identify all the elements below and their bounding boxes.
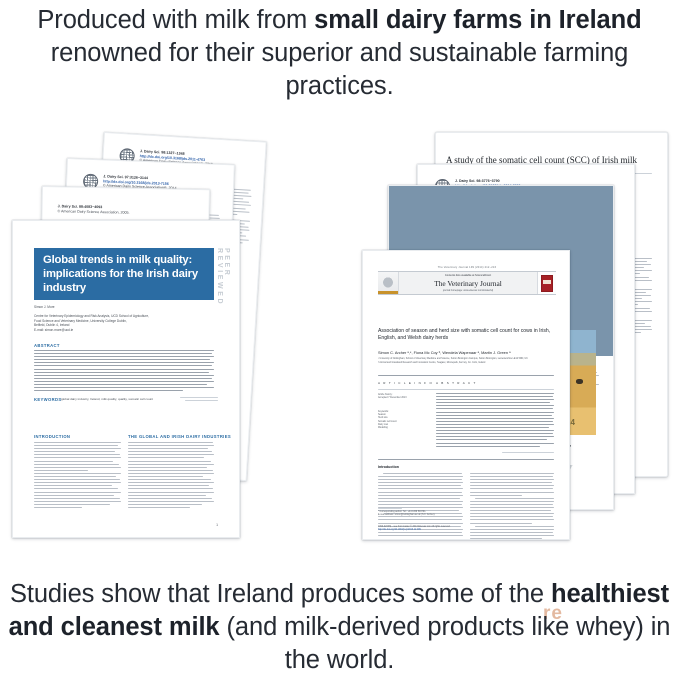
journal-homepage-url[interactable]: journal homepage: www.elsevier.com/locat… [399, 289, 537, 292]
footline-text: Studies show that Ireland produces some … [8, 578, 671, 677]
headline-part1: Produced with milk from [37, 6, 314, 34]
rule-below-info [378, 389, 554, 392]
corresponding-author-note: * Corresponding author. Tel.: +44 1159 5… [378, 508, 458, 517]
science-direct-thumb [378, 272, 399, 294]
article-authors: Simon C. Archer ᵃ,*, Fiona Mc Coy ᵇ, Wen… [378, 350, 554, 355]
poster-canvas: Produced with milk from small dairy farm… [0, 0, 679, 681]
affiliation-a: ᵃ University of Nottingham, School of Ve… [378, 358, 554, 361]
keyword-5: Modelling [378, 427, 426, 430]
abstract-heading: A B S T R A C T [436, 381, 477, 385]
keywords-block: Keywords: Season Herd size Somatic cell … [378, 411, 426, 430]
introduction-heading: Introduction [378, 465, 399, 469]
running-head: The Veterinary Journal 199 (2014) 212−21… [378, 266, 556, 269]
footer-doi[interactable]: http://dx.doi.org/10.1016/j.tvjl.2013.12… [378, 529, 508, 532]
masthead-box: Contents lists available at ScienceDirec… [378, 271, 556, 295]
tree-illustration-icon [378, 272, 398, 291]
contents-line: Contents lists available at ScienceDirec… [399, 274, 537, 277]
footline-part1: Studies show that Ireland produces some … [10, 580, 551, 608]
headline-text: Produced with milk from small dairy farm… [8, 4, 671, 103]
corresponding-email[interactable]: E-mail address: simon@nottingham.ac.uk (… [378, 514, 458, 517]
masthead-center: Contents lists available at ScienceDirec… [399, 272, 537, 294]
rule-above-info [378, 375, 554, 378]
journal-masthead: The Veterinary Journal 199 (2014) 212−21… [378, 266, 556, 295]
journal-cover-icon [541, 275, 553, 292]
right-front-sheet[interactable]: The Veterinary Journal 199 (2014) 212−21… [362, 250, 570, 540]
footline-part2: (and milk-derived products like whey) in… [220, 613, 671, 674]
headline-part2: renowned for their superior and sustaina… [51, 39, 628, 100]
article-history-block: Article history: Accepted 7 December 201… [378, 394, 426, 400]
article-title: Association of season and herd size with… [378, 328, 554, 342]
document-collage: J. Dairy Sci. 98:1327−1348 http://dx.doi… [0, 130, 679, 545]
contents-text: Contents lists available at ScienceDirec… [445, 274, 491, 277]
journal-name: The Veterinary Journal [399, 279, 537, 288]
accepted-date: Accepted 7 December 2013 [378, 397, 426, 400]
elsevier-bar [378, 291, 398, 294]
right-document-stack: A study of the somatic cell count (SCC) … [0, 130, 679, 545]
footer-issn-block: 1090-0233/$ – see front matter © 2013 El… [378, 526, 508, 532]
journal-cover-thumb [537, 272, 556, 294]
affiliation-b: ᵇ Animal and Grassland Research and Inno… [378, 362, 554, 365]
headline-bold1: small dairy farms in Ireland [314, 6, 641, 34]
rule-below-abstract [378, 459, 554, 462]
article-info-heading: A R T I C L E I N F O [378, 381, 433, 385]
abstract-body [436, 393, 554, 455]
